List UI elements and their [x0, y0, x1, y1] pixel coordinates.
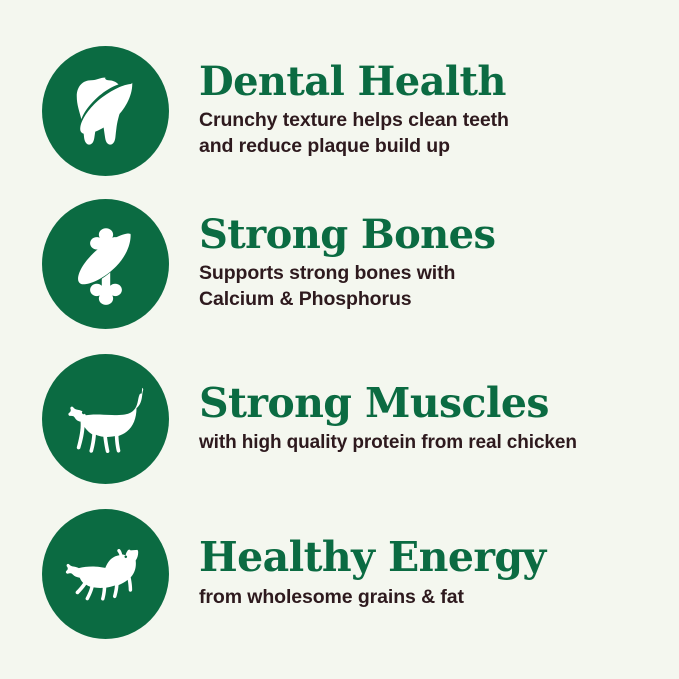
benefit-description: Crunchy texture helps clean teeth and re…	[199, 108, 667, 160]
leaping-dog-icon	[42, 509, 169, 639]
tooth-leaf-icon	[42, 46, 169, 176]
bone-leaf-icon	[42, 199, 169, 329]
benefit-description-line: Supports strong bones with	[199, 261, 667, 287]
benefit-text-block: Strong Muscles with high quality protein…	[199, 382, 679, 456]
benefit-title: Healthy Energy	[199, 536, 667, 579]
benefit-description-line: Calcium & Phosphorus	[199, 287, 667, 313]
benefit-item-dental-health: Dental Health Crunchy texture helps clea…	[0, 33, 679, 188]
benefit-description-line: Crunchy texture helps clean teeth	[199, 108, 667, 134]
benefit-description: Supports strong bones with Calcium & Pho…	[199, 261, 667, 313]
benefit-item-strong-bones: Strong Bones Supports strong bones with …	[0, 186, 679, 341]
benefit-text-block: Healthy Energy from wholesome grains & f…	[199, 536, 679, 610]
benefits-panel: Dental Health Crunchy texture helps clea…	[0, 0, 679, 679]
standing-dog-icon	[42, 354, 169, 484]
benefit-description: from wholesome grains & fat	[199, 585, 667, 611]
benefit-item-healthy-energy: Healthy Energy from wholesome grains & f…	[0, 496, 679, 651]
benefit-title: Dental Health	[199, 61, 667, 103]
benefit-description-line: with high quality protein from real chic…	[199, 430, 667, 455]
benefit-title: Strong Muscles	[199, 382, 667, 425]
benefit-text-block: Dental Health Crunchy texture helps clea…	[199, 61, 679, 160]
benefit-description-line: and reduce plaque build up	[199, 134, 667, 160]
benefit-item-strong-muscles: Strong Muscles with high quality protein…	[0, 341, 679, 496]
benefit-title: Strong Bones	[199, 214, 667, 256]
benefit-description-line: from wholesome grains & fat	[199, 585, 667, 611]
benefit-description: with high quality protein from real chic…	[199, 430, 667, 455]
benefit-text-block: Strong Bones Supports strong bones with …	[199, 214, 679, 313]
